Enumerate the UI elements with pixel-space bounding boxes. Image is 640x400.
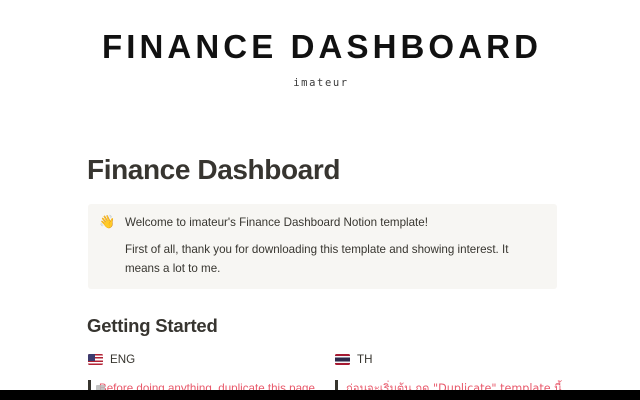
callout-line-2: First of all, thank you for downloading …	[125, 240, 544, 278]
callout-line-1: Welcome to imateur's Finance Dashboard N…	[125, 213, 544, 232]
callout-body: Welcome to imateur's Finance Dashboard N…	[125, 213, 544, 278]
cover-subtitle: imateur	[291, 77, 348, 89]
language-label-th: TH	[335, 351, 575, 368]
language-code-eng: ENG	[110, 351, 135, 368]
page-content: Finance Dashboard 👋 Welcome to imateur's…	[0, 118, 640, 400]
cover-title: FINANCE DASHBOARD	[98, 29, 542, 65]
waving-hand-emoji: 👋	[99, 213, 116, 230]
th-flag-emoji	[335, 354, 350, 365]
us-flag-emoji	[88, 354, 103, 365]
welcome-callout[interactable]: 👋 Welcome to imateur's Finance Dashboard…	[88, 204, 557, 289]
cover-banner: FINANCE DASHBOARD imateur	[0, 0, 640, 118]
language-label-eng: ENG	[88, 351, 328, 368]
language-code-th: TH	[357, 351, 372, 368]
section-title-getting-started[interactable]: Getting Started	[0, 289, 640, 337]
page-title[interactable]: Finance Dashboard	[0, 118, 640, 186]
notion-page: FINANCE DASHBOARD imateur Finance Dashbo…	[0, 0, 640, 400]
bottom-letterbox	[0, 390, 640, 400]
